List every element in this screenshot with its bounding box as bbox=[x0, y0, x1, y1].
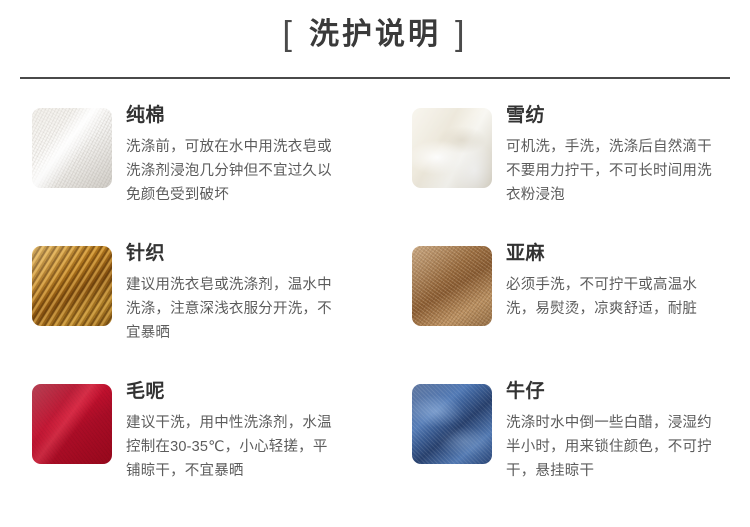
fabric-title-cotton: 纯棉 bbox=[126, 104, 402, 129]
denim-fabric-swatch bbox=[412, 384, 492, 464]
fabric-description-knit: 建议用洗衣皂或洗涤剂，温水中洗涤，注意深浅衣服分开洗，不宜暴晒 bbox=[126, 273, 338, 345]
page-title-text: 洗护说明 bbox=[309, 16, 441, 54]
page-title: [ 洗护说明 ] bbox=[283, 16, 468, 54]
page-header: [ 洗护说明 ] bbox=[0, 0, 750, 54]
header-divider bbox=[20, 77, 730, 79]
care-instructions-page: [ 洗护说明 ] 纯棉 洗涤前，可放在水中用洗衣皂或洗涤剂浸泡几分钟但不宜过久以… bbox=[0, 0, 750, 527]
fabric-card-linen: 亚麻 必须手洗，不可拧干或高温水洗，易熨烫，凉爽舒适，耐脏 bbox=[412, 238, 750, 376]
fabric-card-text: 亚麻 必须手洗，不可拧干或高温水洗，易熨烫，凉爽舒适，耐脏 bbox=[506, 238, 750, 321]
linen-fabric-swatch bbox=[412, 246, 492, 326]
bracket-left-decoration: [ bbox=[283, 17, 295, 51]
fabric-title-linen: 亚麻 bbox=[506, 242, 750, 267]
fabric-title-chiffon: 雪纺 bbox=[506, 104, 750, 129]
fabric-description-denim: 洗涤时水中倒一些白醋，浸湿约半小时，用来锁住颜色，不可拧干，悬挂晾干 bbox=[506, 411, 718, 483]
fabric-card-denim: 牛仔 洗涤时水中倒一些白醋，浸湿约半小时，用来锁住颜色，不可拧干，悬挂晾干 bbox=[412, 376, 750, 514]
fabric-description-cotton: 洗涤前，可放在水中用洗衣皂或洗涤剂浸泡几分钟但不宜过久以免颜色受到破坏 bbox=[126, 135, 338, 207]
fabric-description-chiffon: 可机洗，手洗，洗涤后自然滴干不要用力拧干，不可长时间用洗衣粉浸泡 bbox=[506, 135, 718, 207]
fabric-care-grid: 纯棉 洗涤前，可放在水中用洗衣皂或洗涤剂浸泡几分钟但不宜过久以免颜色受到破坏 雪… bbox=[0, 100, 750, 514]
fabric-title-wool: 毛呢 bbox=[126, 380, 402, 405]
wool-fabric-swatch bbox=[32, 384, 112, 464]
fabric-description-linen: 必须手洗，不可拧干或高温水洗，易熨烫，凉爽舒适，耐脏 bbox=[506, 273, 718, 321]
fabric-card-text: 雪纺 可机洗，手洗，洗涤后自然滴干不要用力拧干，不可长时间用洗衣粉浸泡 bbox=[506, 100, 750, 207]
fabric-card-chiffon: 雪纺 可机洗，手洗，洗涤后自然滴干不要用力拧干，不可长时间用洗衣粉浸泡 bbox=[412, 100, 750, 238]
chiffon-fabric-swatch bbox=[412, 108, 492, 188]
fabric-card-knit: 针织 建议用洗衣皂或洗涤剂，温水中洗涤，注意深浅衣服分开洗，不宜暴晒 bbox=[32, 238, 402, 376]
fabric-description-wool: 建议干洗，用中性洗涤剂，水温控制在30-35℃，小心轻搓，平铺晾干，不宜暴晒 bbox=[126, 411, 338, 483]
fabric-card-text: 牛仔 洗涤时水中倒一些白醋，浸湿约半小时，用来锁住颜色，不可拧干，悬挂晾干 bbox=[506, 376, 750, 483]
fabric-card-text: 毛呢 建议干洗，用中性洗涤剂，水温控制在30-35℃，小心轻搓，平铺晾干，不宜暴… bbox=[126, 376, 402, 483]
fabric-card-text: 针织 建议用洗衣皂或洗涤剂，温水中洗涤，注意深浅衣服分开洗，不宜暴晒 bbox=[126, 238, 402, 345]
fabric-card-text: 纯棉 洗涤前，可放在水中用洗衣皂或洗涤剂浸泡几分钟但不宜过久以免颜色受到破坏 bbox=[126, 100, 402, 207]
fabric-title-knit: 针织 bbox=[126, 242, 402, 267]
fabric-card-cotton: 纯棉 洗涤前，可放在水中用洗衣皂或洗涤剂浸泡几分钟但不宜过久以免颜色受到破坏 bbox=[32, 100, 402, 238]
knit-fabric-swatch bbox=[32, 246, 112, 326]
fabric-card-wool: 毛呢 建议干洗，用中性洗涤剂，水温控制在30-35℃，小心轻搓，平铺晾干，不宜暴… bbox=[32, 376, 402, 514]
bracket-right-decoration: ] bbox=[455, 17, 467, 51]
fabric-title-denim: 牛仔 bbox=[506, 380, 750, 405]
cotton-fabric-swatch bbox=[32, 108, 112, 188]
